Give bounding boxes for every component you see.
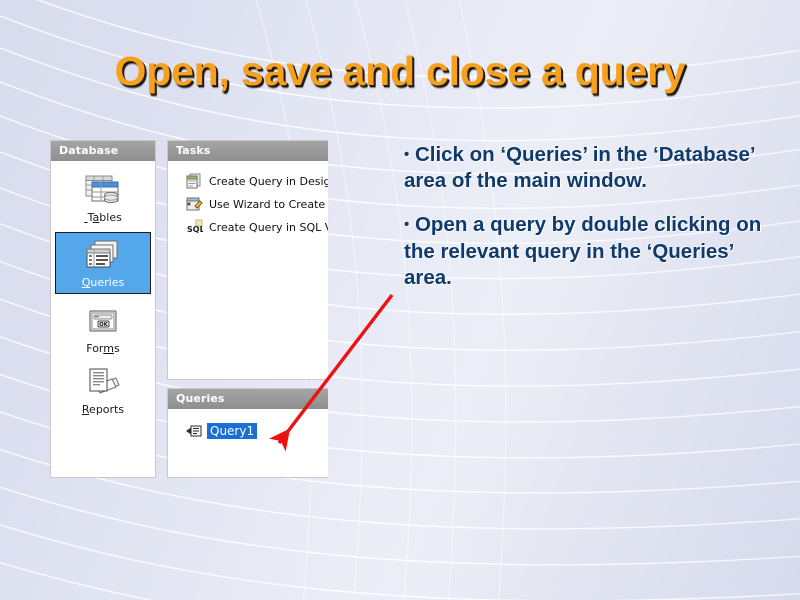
sidebar-item-label: Tables: [51, 211, 155, 224]
sidebar-item-tables[interactable]: Tables: [51, 167, 155, 228]
slide-title: Open, save and close a query: [0, 48, 800, 95]
query-item-icon: [186, 425, 202, 438]
task-item-label: Use Wizard to Create Query: [209, 198, 328, 211]
svg-text:OK: OK: [99, 322, 108, 328]
reports-icon: [51, 365, 155, 399]
sidebar-item-label: Forms: [51, 342, 155, 355]
bullet-list: • Click on ‘Queries’ in the ‘Database’ a…: [404, 142, 784, 309]
task-item-design-view[interactable]: Create Query in Design View: [186, 171, 328, 191]
sidebar-item-queries[interactable]: Queries: [55, 232, 151, 294]
design-view-icon: [186, 173, 203, 190]
slide-canvas: Open, save and close a query Database: [0, 0, 800, 600]
database-panel: Database: [50, 140, 156, 478]
app-screenshot: Database: [50, 140, 328, 480]
forms-icon: OK: [51, 304, 155, 338]
tasks-panel-body: Create Query in Design View Use Wizard t…: [168, 161, 328, 237]
bullet-text: Click on ‘Queries’ in the ‘Database’ are…: [404, 143, 754, 192]
database-panel-header: Database: [51, 141, 155, 161]
wizard-icon: [186, 196, 203, 213]
task-item-label: Create Query in Design View: [209, 175, 328, 188]
bullet-text: Open a query by double clicking on the r…: [404, 213, 761, 288]
sidebar-item-label: Queries: [56, 276, 150, 289]
bullet-item: • Click on ‘Queries’ in the ‘Database’ a…: [404, 142, 784, 194]
tasks-panel-header: Tasks: [168, 141, 328, 161]
svg-text:SQL: SQL: [187, 225, 203, 234]
sql-icon: SQL: [186, 219, 203, 236]
queries-list-body: Query1: [168, 409, 328, 439]
queries-icon: [56, 238, 150, 272]
query-item-label[interactable]: Query1: [207, 423, 257, 439]
sidebar-item-reports[interactable]: Reports: [51, 359, 155, 420]
task-item-wizard[interactable]: Use Wizard to Create Query: [186, 194, 328, 214]
tables-icon: [51, 173, 155, 207]
database-panel-body: Tables: [51, 161, 155, 420]
queries-list-panel-header: Queries: [168, 389, 328, 409]
bullet-item: • Open a query by double clicking on the…: [404, 212, 784, 291]
queries-list-panel: Queries Query1: [167, 388, 328, 478]
tasks-panel: Tasks Cre: [167, 140, 328, 380]
task-item-sql-view[interactable]: SQL Create Query in SQL View: [186, 217, 328, 237]
sidebar-item-label: Reports: [51, 403, 155, 416]
sidebar-item-forms[interactable]: OK Forms: [51, 298, 155, 359]
task-item-label: Create Query in SQL View: [209, 221, 328, 234]
